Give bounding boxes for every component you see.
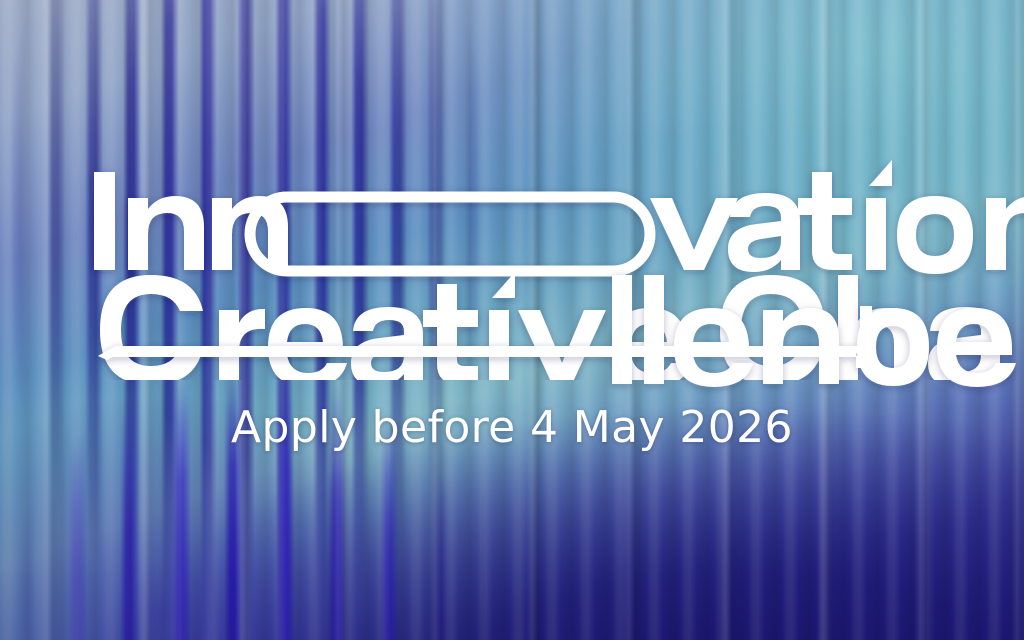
headline-line1-vation [650, 160, 1024, 274]
headline-pill-o [250, 197, 650, 271]
accent-wedge-i-innovation [869, 160, 892, 186]
poster-content: Apply before 4 May 2026 [0, 0, 1024, 640]
headline-svg [0, 150, 1024, 380]
headline-logotype [0, 150, 1024, 380]
headline-line2 [100, 272, 1000, 380]
poster-canvas: Apply before 4 May 2026 [0, 0, 1024, 640]
subtitle-deadline: Apply before 4 May 2026 [0, 402, 1024, 453]
